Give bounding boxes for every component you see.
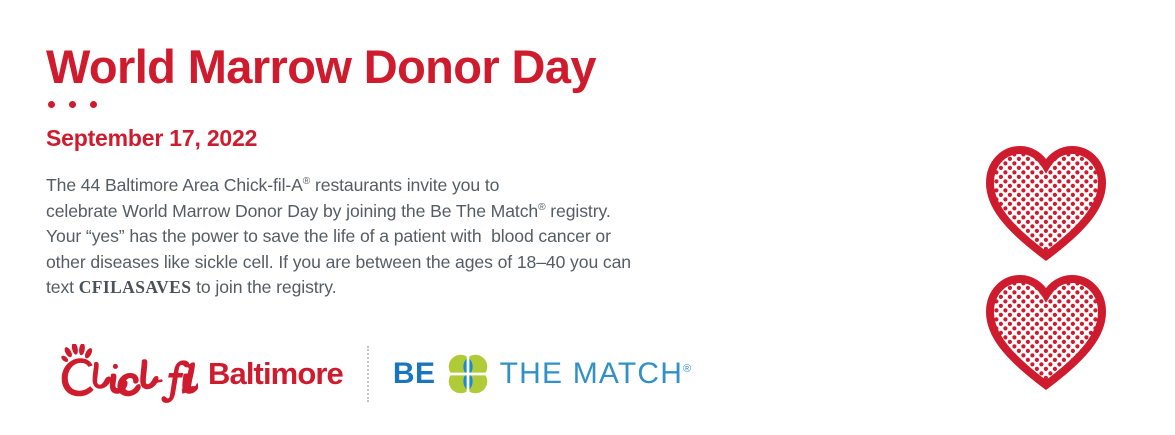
divider-dot-2 (69, 101, 76, 108)
dot-divider (48, 101, 97, 108)
divider-dot-3 (90, 101, 97, 108)
page-title: World Marrow Donor Day (46, 41, 596, 93)
be-the-match-words: THE MATCH (500, 357, 684, 390)
body-paragraph: The 44 Baltimore Area Chick-fil-A® resta… (46, 173, 631, 301)
four-petal-pinwheel-icon (445, 352, 491, 396)
event-date: September 17, 2022 (46, 124, 257, 152)
be-the-match-be-text: BE (393, 357, 436, 391)
chick-fil-a-baltimore-wordmark: Baltimore (208, 356, 343, 392)
logo-divider (367, 346, 369, 402)
registered-mark-icon-3: ® (683, 363, 692, 375)
divider-dot-1 (48, 101, 55, 108)
registered-mark-icon-2: ® (538, 202, 545, 213)
body-text-part-1: The 44 Baltimore Area Chick-fil-A (46, 175, 303, 195)
be-the-match-logo: BE (393, 352, 692, 396)
body-text-part-4: to join the registry. (191, 277, 336, 297)
chick-fil-a-script-logo (46, 344, 198, 404)
polka-dot-heart-icon-bottom (985, 272, 1107, 390)
content-column: World Marrow Donor Day September 17, 202… (46, 0, 806, 435)
polka-dot-heart-icon-top (985, 143, 1107, 261)
be-the-match-text: THE MATCH® (500, 357, 693, 391)
sms-keyword: CFILASAVES (79, 277, 192, 297)
logo-row: Baltimore BE (46, 339, 692, 409)
